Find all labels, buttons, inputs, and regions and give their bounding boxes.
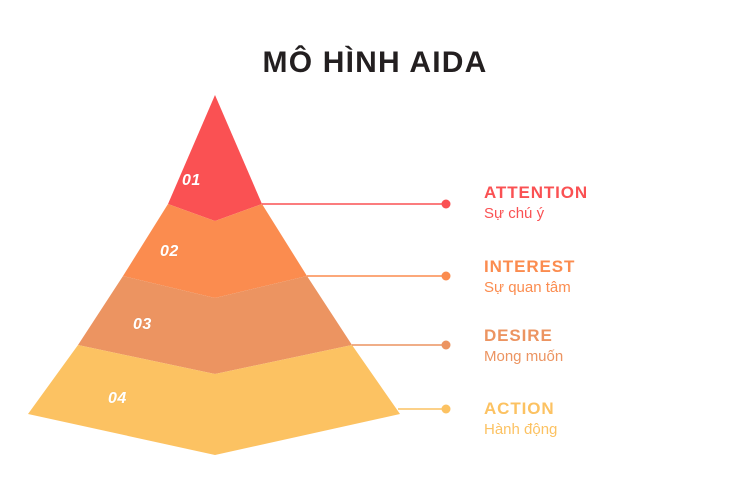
- legend-entry-attention[interactable]: ATTENTION Sự chú ý: [484, 182, 588, 225]
- legend-title-desire: DESIRE: [484, 325, 563, 346]
- legend-subtitle-desire: Mong muốn: [484, 346, 563, 368]
- pyramid-graphic: [0, 0, 750, 491]
- legend-title-action: ACTION: [484, 398, 557, 419]
- legend-subtitle-attention: Sự chú ý: [484, 203, 588, 225]
- tier-number-02: 02: [160, 243, 179, 261]
- connector-dot-1: [442, 200, 451, 209]
- legend-entry-desire[interactable]: DESIRE Mong muốn: [484, 325, 563, 368]
- connector-dot-4: [442, 405, 451, 414]
- legend-subtitle-action: Hành động: [484, 419, 557, 441]
- legend-title-attention: ATTENTION: [484, 182, 588, 203]
- pyramid-tier-1-attention[interactable]: [168, 95, 262, 221]
- tier-number-04: 04: [108, 390, 127, 408]
- tier-number-01: 01: [182, 172, 201, 190]
- legend-entry-action[interactable]: ACTION Hành động: [484, 398, 557, 441]
- legend-entry-interest[interactable]: INTEREST Sự quan tâm: [484, 256, 575, 299]
- aida-pyramid-infographic: MÔ HÌNH AIDA 01 02 03 04 ATTENTION Sự ch…: [0, 0, 750, 491]
- connector-dot-2: [442, 272, 451, 281]
- connector-dot-3: [442, 341, 451, 350]
- legend-title-interest: INTEREST: [484, 256, 575, 277]
- tier-number-03: 03: [133, 316, 152, 334]
- legend-subtitle-interest: Sự quan tâm: [484, 277, 575, 299]
